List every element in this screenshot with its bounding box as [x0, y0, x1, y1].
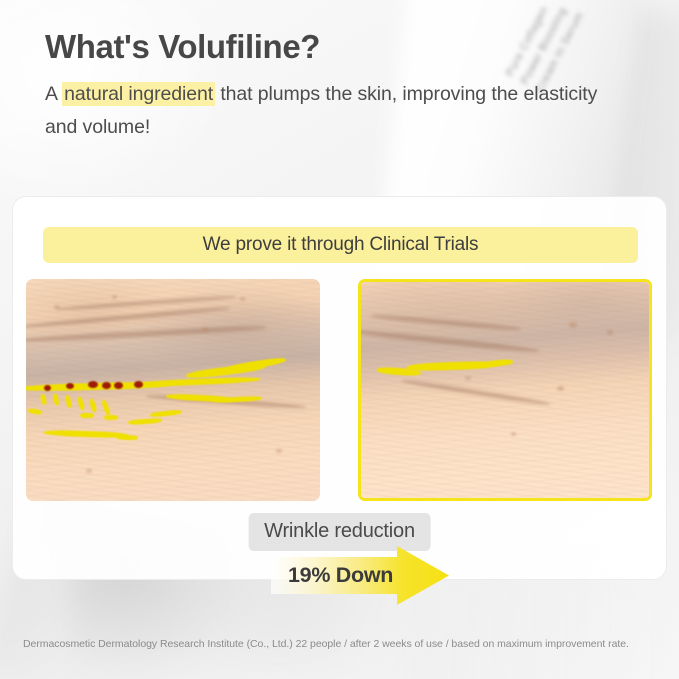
skin-pore	[202, 327, 209, 332]
improvement-arrow-badge: 19% Down	[271, 546, 449, 605]
clinical-trial-card: We prove it through Clinical Trials	[12, 196, 667, 580]
subtitle-text-before: A	[45, 83, 62, 105]
clinical-trial-banner: We prove it through Clinical Trials	[43, 227, 638, 263]
skin-after-texture	[361, 282, 649, 498]
deep-wrinkle-mark	[102, 382, 111, 389]
skin-after-image	[358, 279, 652, 501]
deep-wrinkle-mark	[44, 385, 51, 391]
heading-block: What's Volufiline? A natural ingredient …	[45, 26, 605, 144]
skin-pore	[511, 432, 516, 436]
skin-pore	[569, 322, 577, 328]
skin-pore	[557, 386, 564, 391]
skin-pore	[465, 376, 471, 380]
deep-wrinkle-mark	[134, 381, 143, 388]
skin-pore	[607, 330, 613, 335]
deep-wrinkle-mark	[88, 381, 98, 388]
deep-wrinkle-mark	[114, 382, 123, 389]
skin-pore	[240, 297, 245, 301]
study-footnote: Dermacosmetic Dermatology Research Insti…	[23, 638, 629, 650]
wrinkle-trace	[80, 413, 94, 418]
page-subtitle: A natural ingredient that plumps the ski…	[45, 78, 605, 144]
page-title: What's Volufiline?	[45, 26, 605, 68]
skin-pore	[54, 305, 60, 309]
skin-pore	[276, 449, 282, 453]
skin-before-image	[26, 279, 320, 501]
improvement-arrow-label: 19% Down	[288, 546, 393, 605]
subtitle-highlight: natural ingredient	[62, 82, 215, 106]
skin-pore	[86, 469, 92, 473]
deep-wrinkle-mark	[66, 383, 74, 389]
wrinkle-reduction-caption-label: Wrinkle reduction	[264, 520, 415, 542]
wrinkle-trace	[104, 415, 118, 420]
skin-pore	[112, 295, 117, 299]
clinical-trial-banner-label: We prove it through Clinical Trials	[203, 234, 479, 256]
